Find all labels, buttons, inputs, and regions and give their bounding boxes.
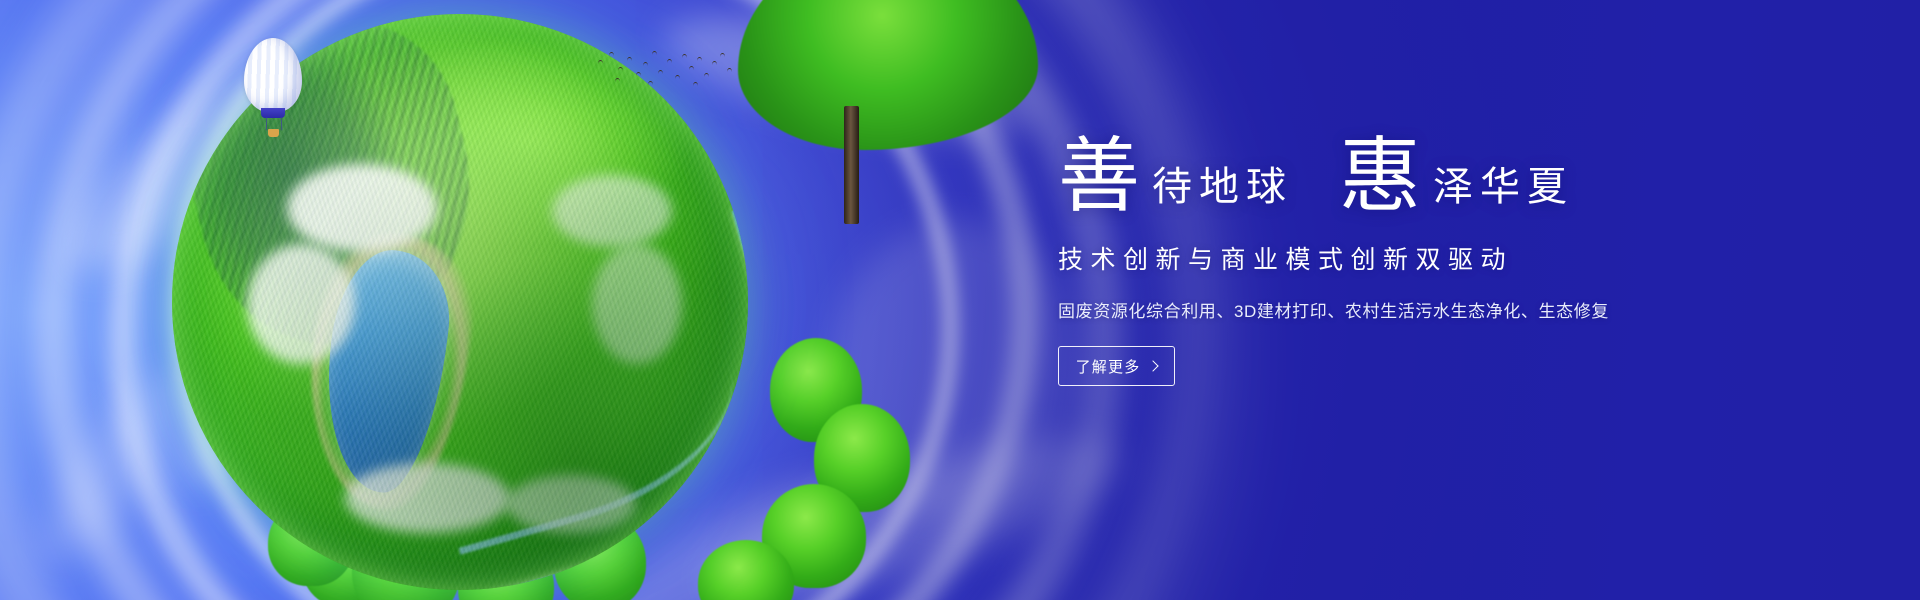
headline-text-small-1: 待地球 [1152,167,1293,207]
headline: 善 待地球 惠 泽华夏 [1058,132,1848,214]
headline-char-large-1: 善 [1058,136,1140,218]
hero-banner: 善 待地球 惠 泽华夏 技术创新与商业模式创新双驱动 固废资源化综合利用、3D建… [0,0,1920,600]
learn-more-button[interactable]: 了解更多 [1058,346,1175,386]
description-text: 固废资源化综合利用、3D建材打印、农村生活污水生态净化、生态修复 [1058,297,1848,322]
headline-phrase-2: 惠 泽华夏 [1339,132,1574,214]
tree-trunk [844,106,859,224]
headline-text-small-2: 泽华夏 [1433,167,1574,207]
headline-char-large-2: 惠 [1339,136,1421,218]
learn-more-label: 了解更多 [1076,356,1141,377]
hero-content: 善 待地球 惠 泽华夏 技术创新与商业模式创新双驱动 固废资源化综合利用、3D建… [1058,132,1848,386]
hot-air-balloon-icon [244,38,302,142]
headline-phrase-1: 善 待地球 [1058,132,1293,214]
chevron-right-icon [1148,360,1159,371]
bird-flock-icon [596,48,736,92]
balloon-basket [268,129,279,137]
balloon-envelope [244,38,302,112]
subtitle: 技术创新与商业模式创新双驱动 [1058,240,1848,276]
